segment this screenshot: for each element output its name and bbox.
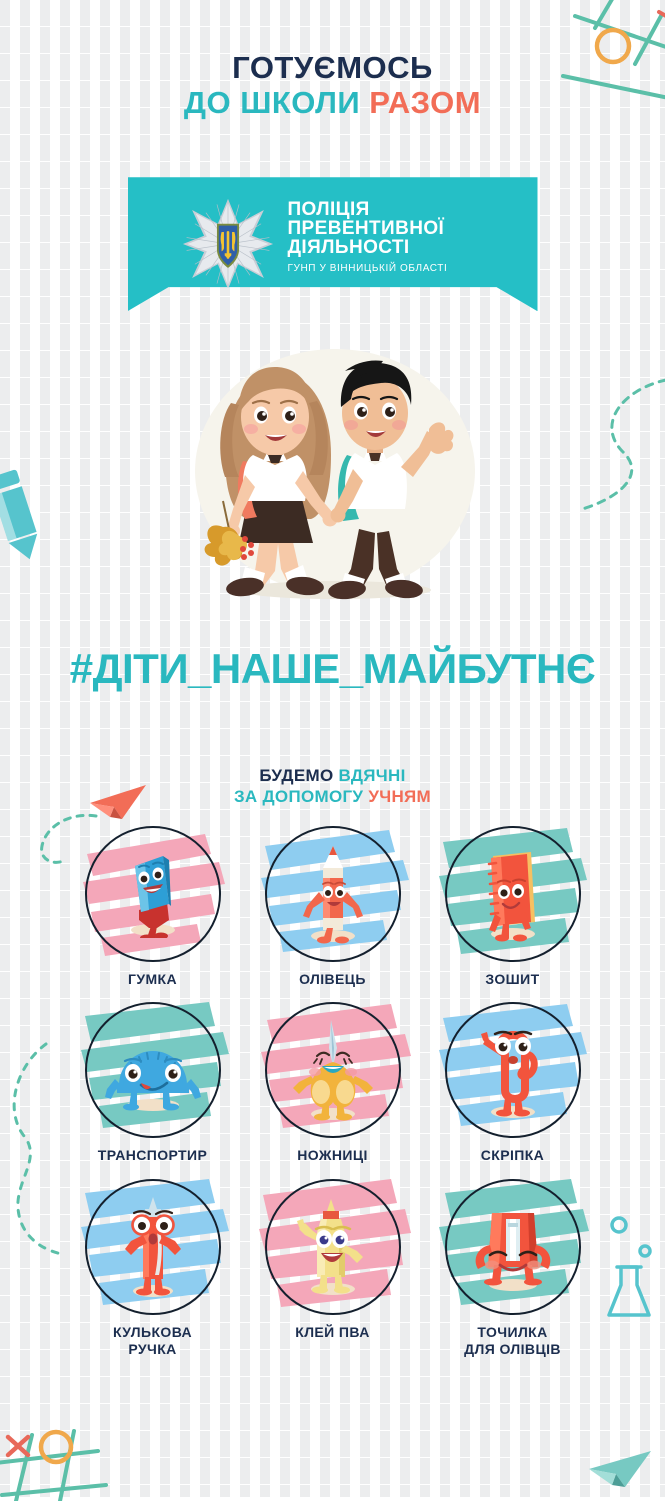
grid-item-paperclip[interactable]: СКРІПКА [423, 1002, 603, 1165]
item-circle[interactable] [445, 1179, 581, 1315]
item-label: КЛЕЙ ПВА [295, 1324, 369, 1342]
subtitle-line-1: БУДЕМО ВДЯЧНІ [0, 765, 665, 786]
item-label-line1: ТРАНСПОРТИР [98, 1147, 207, 1163]
banner-line-2: ПРЕВЕНТИВНОЇ [288, 219, 448, 238]
scissors-icon [291, 1018, 375, 1122]
paper-plane-decoration-bottom-right [587, 1447, 653, 1491]
supplies-grid: ГУМКА [63, 826, 603, 1359]
subtitle-block: БУДЕМО ВДЯЧНІ ЗА ДОПОМОГУ УЧНЯМ [0, 765, 665, 808]
item-label-line1: КЛЕЙ ПВА [295, 1324, 369, 1340]
grid-item-glue[interactable]: КЛЕЙ ПВА [243, 1179, 423, 1359]
grid-item-pen[interactable]: КУЛЬКОВА РУЧКА [63, 1179, 243, 1359]
pen-icon [115, 1195, 191, 1299]
protractor-icon [105, 1027, 201, 1113]
item-circle[interactable] [85, 826, 221, 962]
item-label-line1: ЗОШИТ [485, 971, 539, 987]
banner-line-1: ПОЛІЦІЯ [288, 200, 448, 219]
item-circle[interactable] [265, 1002, 401, 1138]
page-title-line2: ДО ШКОЛИ РАЗОМ [0, 85, 665, 121]
grid-item-eraser[interactable]: ГУМКА [63, 826, 243, 989]
item-label-line1: ОЛІВЕЦЬ [299, 971, 366, 987]
item-label-line1: ГУМКА [128, 971, 177, 987]
hashtag-title: #ДІТИ_НАШЕ_МАЙБУТНЄ [0, 645, 665, 693]
notebook-icon [471, 846, 555, 942]
grid-item-scissors[interactable]: НОЖНИЦІ [243, 1002, 423, 1165]
item-label-line1: НОЖНИЦІ [297, 1147, 368, 1163]
item-label: СКРІПКА [481, 1147, 544, 1165]
police-banner-text: ПОЛІЦІЯ ПРЕВЕНТИВНОЇ ДІЯЛЬНОСТІ ГУНП У В… [288, 200, 448, 288]
item-label: ТОЧИЛКА ДЛЯ ОЛІВЦІВ [464, 1324, 561, 1359]
item-label-line1: СКРІПКА [481, 1147, 544, 1163]
sharpener-icon [466, 1201, 560, 1293]
eraser-icon [113, 850, 193, 938]
grid-item-pencil[interactable]: ОЛІВЕЦЬ [243, 826, 423, 989]
subtitle-line-2: ЗА ДОПОМОГУ УЧНЯМ [0, 786, 665, 807]
dotted-spiral-left [0, 1040, 68, 1270]
grid-item-protractor[interactable]: ТРАНСПОРТИР [63, 1002, 243, 1165]
subtitle-line1-part1: БУДЕМО [259, 766, 333, 785]
glue-icon [291, 1197, 375, 1297]
item-label-line1: ТОЧИЛКА [477, 1324, 547, 1340]
kids-illustration-wrap [0, 343, 665, 613]
subtitle-line2-part2: УЧНЯМ [368, 787, 431, 806]
page-title-line2-part2: РАЗОМ [369, 85, 481, 120]
item-circle[interactable] [265, 1179, 401, 1315]
schoolchildren-illustration [183, 343, 483, 613]
grid-item-sharpener[interactable]: ТОЧИЛКА ДЛЯ ОЛІВЦІВ [423, 1179, 603, 1359]
item-label-line2: ДЛЯ ОЛІВЦІВ [464, 1341, 561, 1357]
item-label-line1: КУЛЬКОВА [113, 1324, 192, 1340]
poster-header: ГОТУЄМОСЬ ДО ШКОЛИ РАЗОМ [0, 0, 665, 120]
police-banner: ПОЛІЦІЯ ПРЕВЕНТИВНОЇ ДІЯЛЬНОСТІ ГУНП У В… [128, 177, 538, 311]
paperclip-icon [475, 1020, 551, 1120]
item-circle[interactable] [85, 1179, 221, 1315]
police-banner-wrap: ПОЛІЦІЯ ПРЕВЕНТИВНОЇ ДІЯЛЬНОСТІ ГУНП У В… [0, 177, 665, 311]
item-label-line2: РУЧКА [128, 1341, 176, 1357]
banner-line-3: ДІЯЛЬНОСТІ [288, 238, 448, 257]
subtitle-line2-part1: ЗА ДОПОМОГУ [234, 787, 363, 806]
subtitle-line1-part2: ВДЯЧНІ [339, 766, 406, 785]
banner-subtitle: ГУНП У ВІННИЦЬКІЙ ОБЛАСТІ [288, 264, 448, 274]
item-circle[interactable] [445, 826, 581, 962]
pencil-icon [297, 844, 369, 944]
item-circle[interactable] [85, 1002, 221, 1138]
item-label: НОЖНИЦІ [297, 1147, 368, 1165]
item-label: ТРАНСПОРТИР [98, 1147, 207, 1165]
item-label: КУЛЬКОВА РУЧКА [113, 1324, 192, 1359]
item-circle[interactable] [445, 1002, 581, 1138]
page-title-line2-part1: ДО ШКОЛИ [184, 85, 360, 120]
poster-page: ГОТУЄМОСЬ ДО ШКОЛИ РАЗОМ [0, 0, 665, 1497]
grid-item-notebook[interactable]: ЗОШИТ [423, 826, 603, 989]
tictactoe-decoration-bottom-left [0, 1391, 124, 1501]
item-circle[interactable] [265, 826, 401, 962]
item-label: ЗОШИТ [485, 971, 539, 989]
police-star-emblem-icon [182, 198, 274, 290]
flask-decoration-right [605, 1215, 661, 1325]
item-label: ГУМКА [128, 971, 177, 989]
item-label: ОЛІВЕЦЬ [299, 971, 366, 989]
page-title-line1: ГОТУЄМОСЬ [0, 52, 665, 85]
